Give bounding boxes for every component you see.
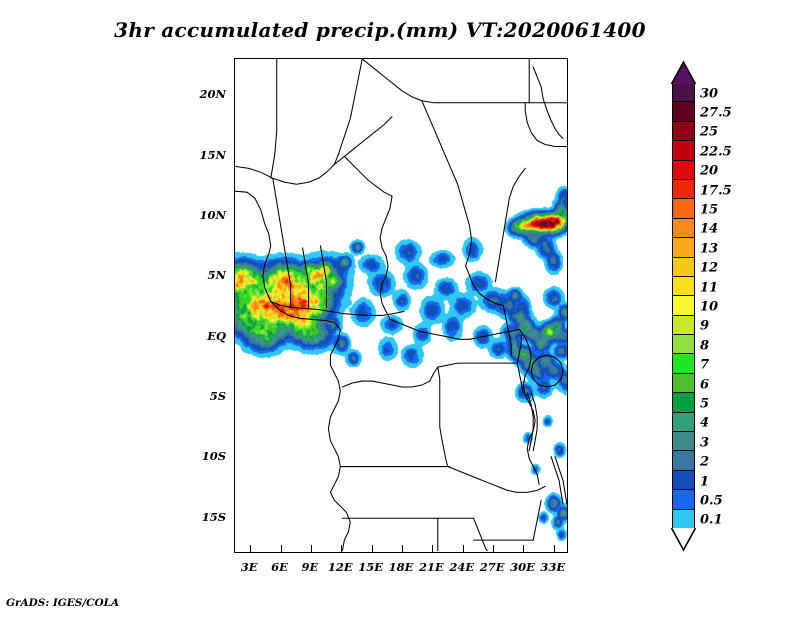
colorbar-segment	[673, 374, 694, 393]
x-axis-label: 3E	[241, 560, 258, 574]
x-axis-label: 6E	[271, 560, 288, 574]
colorbar-segment	[673, 83, 694, 102]
colorbar-segment	[673, 199, 694, 218]
y-axis-tick	[234, 216, 235, 217]
colorbar-label: 11	[700, 280, 718, 295]
colorbar-label: 2	[700, 455, 709, 470]
colorbar-label: 30	[700, 86, 718, 101]
y-axis-tick	[234, 457, 235, 458]
colorbar-label: 6	[700, 377, 709, 392]
colorbar-label: 4	[700, 416, 709, 431]
colorbar-segment	[673, 258, 694, 277]
colorbar-label: 1	[700, 474, 709, 489]
y-axis-label: 15N	[186, 148, 226, 162]
colorbar-segment	[673, 471, 694, 490]
x-axis-tick	[281, 545, 282, 553]
y-axis-tick	[234, 337, 235, 338]
colorbar-segment	[673, 316, 694, 335]
x-axis-label: 27E	[480, 560, 505, 574]
y-axis-tick	[234, 156, 235, 157]
colorbar-segment	[673, 393, 694, 412]
colorbar-segment	[673, 180, 694, 199]
y-axis-tick	[234, 518, 235, 519]
y-axis-tick	[234, 397, 235, 398]
colorbar-under-arrow	[671, 528, 695, 550]
map-boundaries	[235, 59, 567, 551]
colorbar-segment	[673, 238, 694, 257]
colorbar-label: 7	[700, 358, 709, 373]
colorbar-label: 0.5	[700, 493, 723, 508]
x-axis-tick	[463, 545, 464, 553]
y-axis-label: 5N	[186, 268, 226, 282]
colorbar-label: 27.5	[700, 106, 732, 121]
x-axis-label: 30E	[510, 560, 535, 574]
colorbar-label: 9	[700, 319, 709, 334]
y-axis-label: 10N	[186, 208, 226, 222]
y-axis-label: 10S	[186, 449, 226, 463]
x-axis-label: 18E	[389, 560, 414, 574]
colorbar-segment	[673, 102, 694, 121]
colorbar-label: 8	[700, 338, 709, 353]
colorbar-label: 22.5	[700, 144, 732, 159]
credit-label: GrADS: IGES/COLA	[6, 597, 119, 609]
y-axis-label: EQ	[186, 329, 226, 343]
chart-title: 3hr accumulated precip.(mm) VT:202006140…	[0, 18, 760, 42]
colorbar-segment	[673, 510, 694, 529]
colorbar-label: 10	[700, 300, 718, 315]
x-axis-tick	[432, 545, 433, 553]
map-panel	[234, 58, 568, 553]
colorbar-segment	[673, 354, 694, 373]
x-axis-tick	[493, 545, 494, 553]
colorbar-segment	[673, 335, 694, 354]
x-axis-tick	[402, 545, 403, 553]
x-axis-tick	[523, 545, 524, 553]
colorbar-label: 15	[700, 203, 718, 218]
colorbar-segment	[673, 122, 694, 141]
colorbar-label: 25	[700, 125, 718, 140]
x-axis-tick	[250, 545, 251, 553]
colorbar-segment	[673, 161, 694, 180]
x-axis-label: 9E	[302, 560, 319, 574]
x-axis-label: 24E	[449, 560, 474, 574]
x-axis-label: 15E	[358, 560, 383, 574]
colorbar-label: 0.1	[700, 513, 723, 528]
colorbar-segment	[673, 490, 694, 509]
colorbar-segment	[673, 413, 694, 432]
y-axis-label: 20N	[186, 87, 226, 101]
colorbar-label: 13	[700, 241, 718, 256]
x-axis-tick	[554, 545, 555, 553]
colorbar-label: 20	[700, 164, 718, 179]
x-axis-tick	[372, 545, 373, 553]
colorbar-segment	[673, 432, 694, 451]
x-axis-label: 33E	[540, 560, 565, 574]
y-axis-label: 5S	[186, 389, 226, 403]
colorbar-segment	[673, 219, 694, 238]
y-axis-tick	[234, 276, 235, 277]
colorbar-segment	[673, 296, 694, 315]
colorbar-segment	[673, 141, 694, 160]
y-axis-label: 15S	[186, 510, 226, 524]
colorbar-label: 17.5	[700, 183, 732, 198]
colorbar-label: 5	[700, 396, 709, 411]
colorbar-label: 12	[700, 261, 718, 276]
colorbar-over-arrow	[671, 62, 695, 84]
colorbar-segment	[673, 451, 694, 470]
x-axis-label: 12E	[328, 560, 353, 574]
colorbar-label: 14	[700, 222, 718, 237]
x-axis-label: 21E	[419, 560, 444, 574]
x-axis-tick	[311, 545, 312, 553]
x-axis-tick	[341, 545, 342, 553]
y-axis-tick	[234, 95, 235, 96]
colorbar	[672, 82, 695, 528]
colorbar-label: 3	[700, 435, 709, 450]
colorbar-segment	[673, 277, 694, 296]
